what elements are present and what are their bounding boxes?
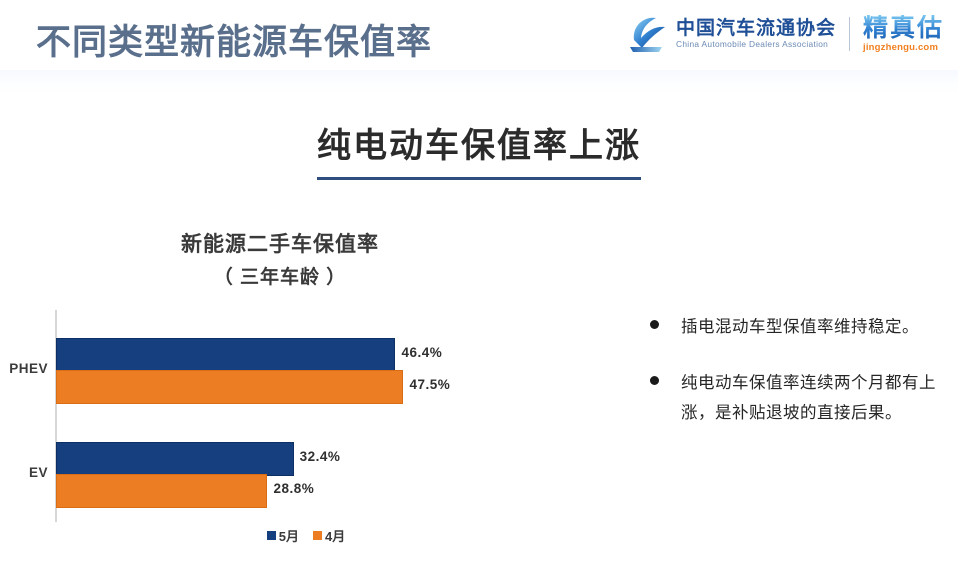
bar-ev-april[interactable] [56,474,267,508]
legend-item-may[interactable]: 5月 [267,526,299,545]
bullet-dot-icon [650,376,659,385]
brand-name-cn: 精真估 [863,15,944,42]
legend-item-april[interactable]: 4月 [313,526,345,545]
cada-text-block: 中国汽车流通协会 China Automobile Dealers Associ… [676,18,836,50]
chart-category-label-ev: EV [0,465,48,480]
jingzhengu-logo: 精真估 jingzhengu.com [863,15,944,54]
headline: 纯电动车保值率上涨 [317,118,641,180]
cada-swoosh-icon [628,14,670,54]
insight-text-2: 纯电动车保值率连续两个月都有上涨，是补贴退坡的直接后果。 [681,368,950,428]
legend-label-april: 4月 [325,526,345,545]
list-item: 纯电动车保值率连续两个月都有上涨，是补贴退坡的直接后果。 [650,368,950,428]
chart-panel: 新能源二手车保值率 （ 三年车龄 ） PHEV EV 46.4% 47.5% 3… [0,228,620,558]
legend-label-may: 5月 [279,526,299,545]
association-name-en: China Automobile Dealers Association [676,39,839,50]
bar-value-phev-may: 46.4% [401,345,442,360]
page-title: 不同类型新能源车保值率 [36,14,432,65]
bar-ev-may[interactable] [56,442,294,476]
list-item: 插电混动车型保值率维持稳定。 [650,312,950,342]
bar-phev-april[interactable] [56,370,403,404]
legend-swatch-icon-may [267,531,276,540]
page-header: 不同类型新能源车保值率 [0,0,958,72]
logo-cluster: 中国汽车流通协会 China Automobile Dealers Associ… [628,8,944,60]
bar-value-ev-april: 28.8% [273,481,314,496]
bar-value-ev-may: 32.4% [300,449,341,464]
insight-text-1: 插电混动车型保值率维持稳定。 [681,312,919,342]
insights-list: 插电混动车型保值率维持稳定。 纯电动车保值率连续两个月都有上涨，是补贴退坡的直接… [650,312,950,454]
bar-value-phev-april: 47.5% [409,377,450,392]
brand-url: jingzhengu.com [863,42,944,54]
chart-category-label-phev: PHEV [0,361,48,376]
logo-divider [849,17,850,51]
chart-plot-area: PHEV EV 46.4% 47.5% 32.4% 28.8% [0,310,620,522]
legend-swatch-icon-april [313,531,322,540]
bullet-dot-icon [650,320,659,329]
chart-subtitle: （ 三年车龄 ） [0,262,560,289]
headline-wrapper: 纯电动车保值率上涨 [0,118,958,180]
chart-title: 新能源二手车保值率 [0,228,560,258]
bar-phev-may[interactable] [56,338,395,372]
chart-legend: 5月 4月 [56,526,556,545]
header-band [0,70,958,96]
association-name-cn: 中国汽车流通协会 [676,18,836,39]
cada-logo: 中国汽车流通协会 China Automobile Dealers Associ… [628,14,836,54]
